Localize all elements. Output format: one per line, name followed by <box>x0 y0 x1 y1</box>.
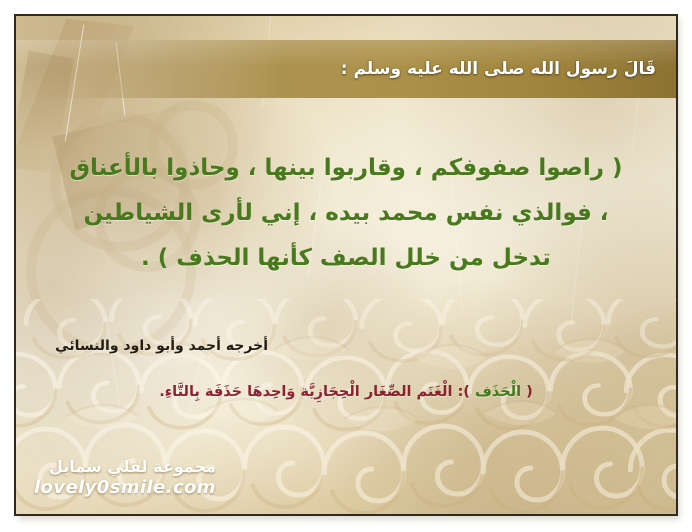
gloss-term: الْحَذَف <box>475 384 521 400</box>
header-banner: قَالَ رسول الله صلى الله عليه وسلم : <box>16 40 676 98</box>
watermark-arabic-text: مجموعة لفلي سمايل <box>34 457 216 476</box>
hadith-line-2: ، فوالذي نفس محمد بيده ، إني لأرى الشياط… <box>34 191 658 236</box>
gloss-definition: ): الْغَنَم الصِّغَار الْحِجَازِيَّة وَا… <box>159 384 475 400</box>
watermark-url: lovely0smile.com <box>34 477 216 498</box>
watermark: مجموعة لفلي سمايل lovely0smile.com <box>34 457 216 498</box>
gloss-open-paren: ( <box>521 384 533 400</box>
hadith-quote: ( راصوا صفوفكم ، وقاربوا بينها ، وحاذوا … <box>34 146 658 281</box>
hadith-line-3: تدخل من خلل الصف كأنها الحذف ) . <box>34 236 658 281</box>
hadith-source: أخرجه أحمد وأبو داود والنسائي <box>16 338 676 354</box>
word-gloss: ( الْحَذَف ): الْغَنَم الصِّغَار الْحِجَ… <box>16 384 676 400</box>
quote-card-plate: قَالَ رسول الله صلى الله عليه وسلم : ( ر… <box>14 14 678 516</box>
quote-card-frame: قَالَ رسول الله صلى الله عليه وسلم : ( ر… <box>0 0 692 532</box>
hadith-line-1: ( راصوا صفوفكم ، وقاربوا بينها ، وحاذوا … <box>34 146 658 191</box>
header-banner-text: قَالَ رسول الله صلى الله عليه وسلم : <box>341 59 656 79</box>
